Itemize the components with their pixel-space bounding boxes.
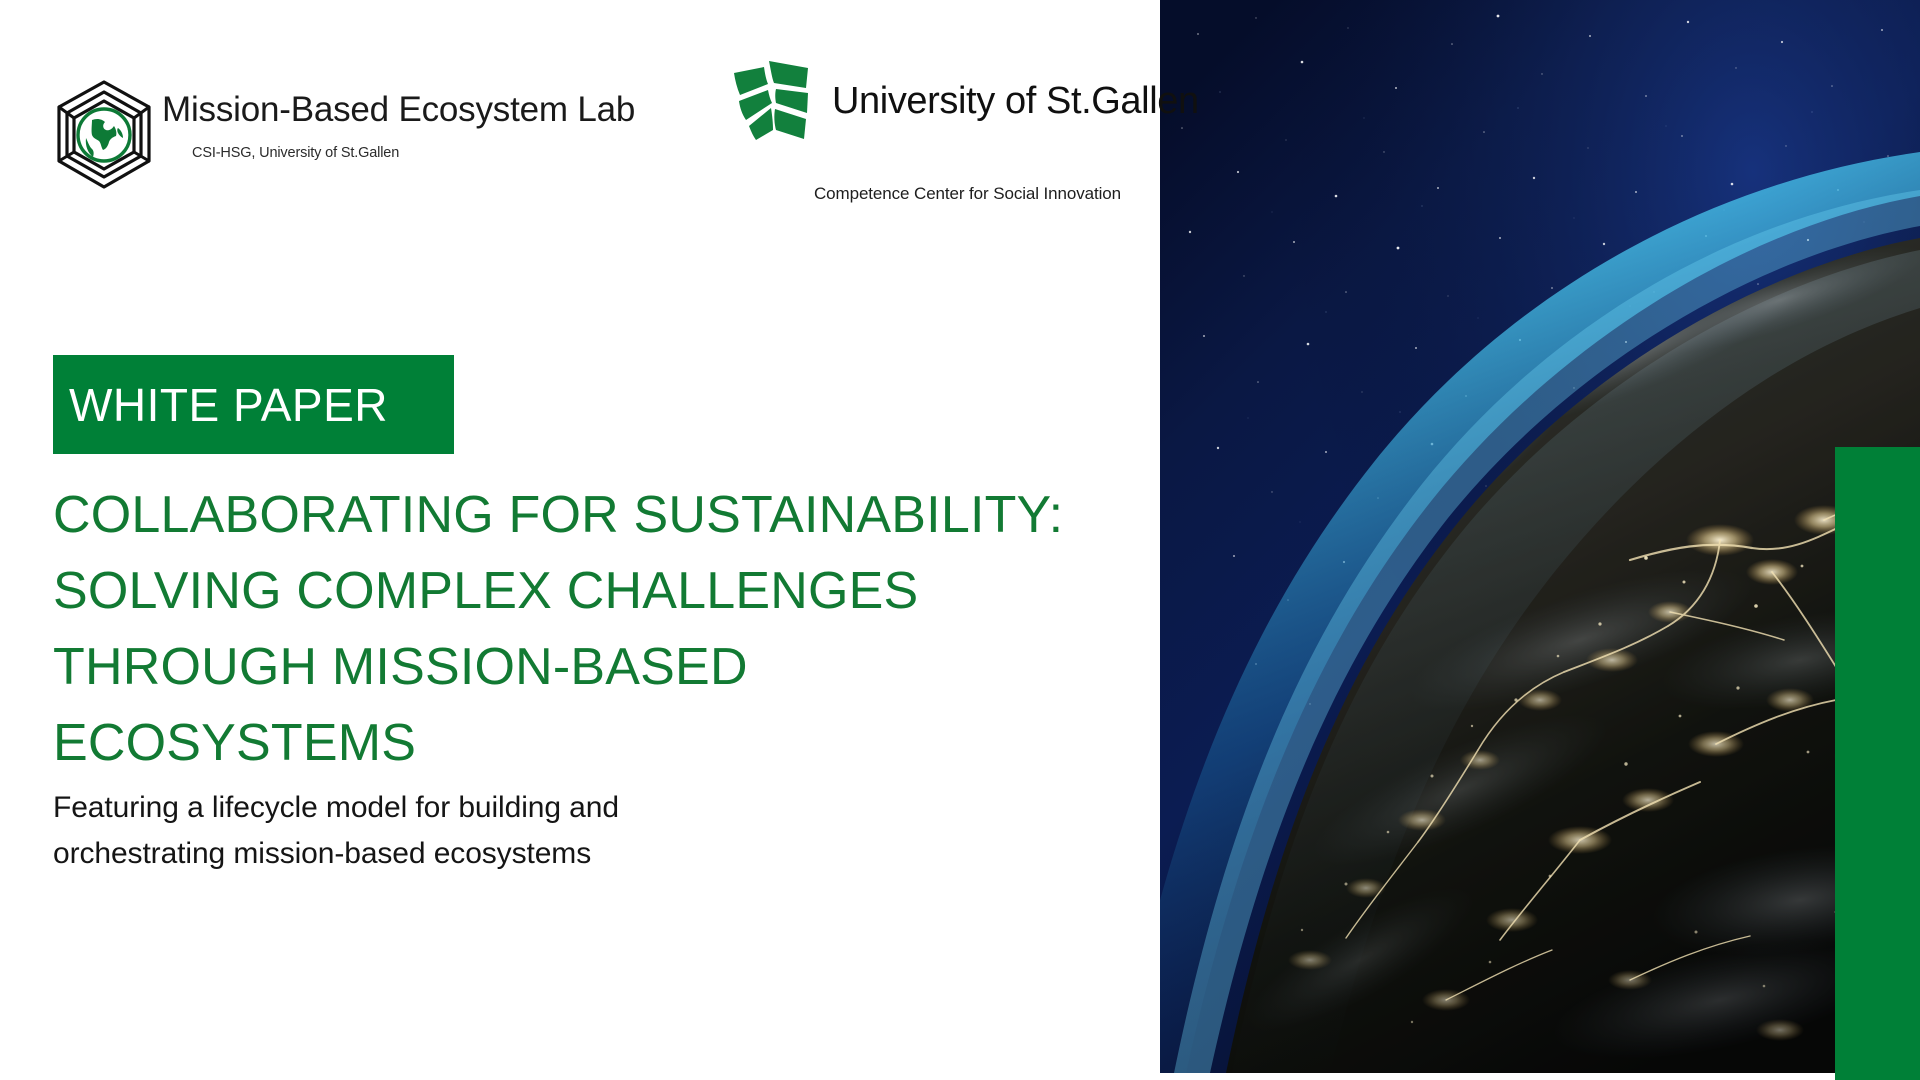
cover-content-pane: Mission-Based Ecosystem Lab CSI-HSG, Uni… <box>0 0 1160 1080</box>
page-title-line-3: THROUGH MISSION-BASED <box>53 629 1153 705</box>
mbel-affiliation: CSI-HSG, University of St.Gallen <box>192 145 635 161</box>
hsg-logo-row: University of St.Gallen <box>728 58 1199 144</box>
university-of-st-gallen-logo: University of St.Gallen Competence Cente… <box>728 58 1199 204</box>
page-subtitle-line-1: Featuring a lifecycle model for building… <box>53 785 753 831</box>
page-subtitle-line-2: orchestrating mission-based ecosystems <box>53 831 753 877</box>
white-paper-badge-label: WHITE PAPER <box>53 378 388 432</box>
mbel-lab-name: Mission-Based Ecosystem Lab <box>162 90 635 129</box>
page-title-line-2: SOLVING COMPLEX CHALLENGES <box>53 553 1153 629</box>
earth-from-space-night-photo <box>1160 0 1920 1073</box>
page-title: COLLABORATING FOR SUSTAINABILITY: SOLVIN… <box>53 477 1153 781</box>
hexagon-globe-icon <box>48 76 160 194</box>
hsg-competence-center: Competence Center for Social Innovation <box>814 184 1199 204</box>
page-title-line-1: COLLABORATING FOR SUSTAINABILITY: <box>53 477 1153 553</box>
page-title-line-4: ECOSYSTEMS <box>53 705 1153 781</box>
white-paper-cover-page: Mission-Based Ecosystem Lab CSI-HSG, Uni… <box>0 0 1920 1080</box>
mission-based-ecosystem-lab-logo: Mission-Based Ecosystem Lab CSI-HSG, Uni… <box>48 76 635 194</box>
white-paper-badge: WHITE PAPER <box>53 355 454 454</box>
green-accent-bar <box>1835 447 1920 1080</box>
page-subtitle: Featuring a lifecycle model for building… <box>53 785 753 877</box>
hsg-crest-icon <box>728 58 814 144</box>
hsg-university-name: University of St.Gallen <box>832 80 1199 123</box>
